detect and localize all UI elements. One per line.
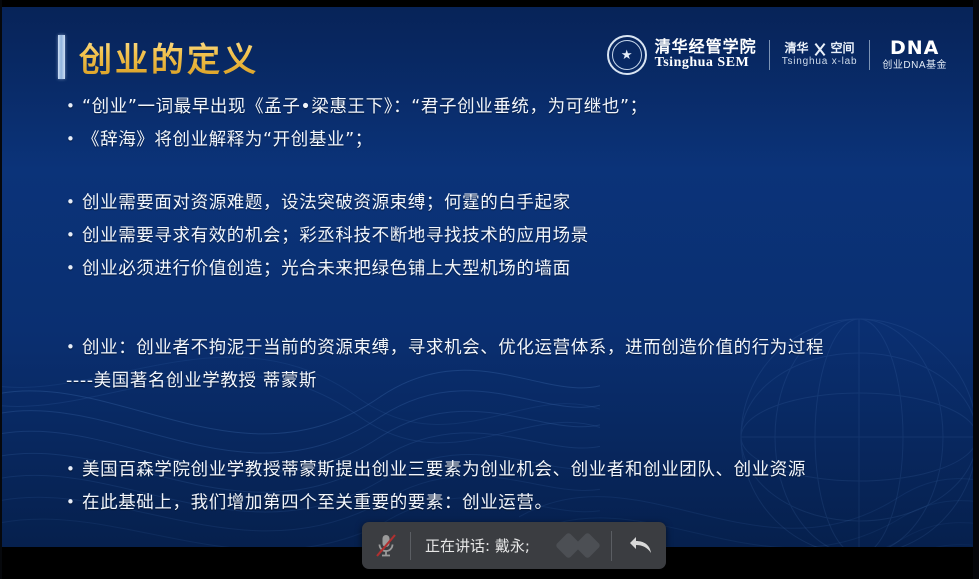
xlab-name-cn2: 空间: [831, 42, 855, 56]
x-mark-icon: [812, 42, 828, 56]
back-arrow-icon[interactable]: [618, 522, 666, 569]
spacer: [66, 157, 951, 187]
bullet-line: • 《辞海》将创业解释为“开创基业”；: [66, 130, 373, 151]
meeting-toolbar[interactable]: 正在讲话: 戴永;: [362, 522, 666, 569]
presentation-slide: 创业的定义 清华经管学院 Tsinghua SEM 清华 空间 Tsinghua…: [0, 7, 979, 547]
spacer: [66, 286, 951, 316]
bullet-marker: •: [66, 338, 82, 357]
logo-divider: [769, 40, 770, 70]
definition-text: 创业：创业者不拘泥于当前的资源束缚，寻求机会、优化运营体系，进而创造价值的行为过…: [82, 338, 824, 359]
spacer: [66, 428, 951, 454]
bullet-line: • 创业需要寻求有效的机会；彩丞科技不断地寻找技术的应用场景: [66, 226, 589, 247]
bullet-line: • 创业需要面对资源难题，设法突破资源束缚；何霆的白手起家: [66, 193, 571, 214]
bullet-marker: •: [66, 130, 82, 149]
xlab-name-cn: 清华: [785, 42, 809, 56]
bullet-line: • 创业必须进行价值创造；光合未来把绿色铺上大型机场的墙面: [66, 259, 571, 280]
logo-bar: 清华经管学院 Tsinghua SEM 清华 空间 Tsinghua x-lab…: [607, 35, 947, 75]
bullet-marker: •: [66, 460, 82, 479]
bullet-text: 在此基础上，我们增加第四个至关重要的要素：创业运营。: [82, 493, 553, 514]
top-letterbox: [0, 0, 979, 7]
bullet-line: • 美国百森学院创业学教授蒂蒙斯提出创业三要素为创业机会、创业者和创业团队、创业…: [66, 460, 806, 481]
screen: 创业的定义 清华经管学院 Tsinghua SEM 清华 空间 Tsinghua…: [0, 0, 979, 579]
attribution-line: ----美国著名创业学教授 蒂蒙斯: [66, 371, 317, 392]
toolbar-divider-2: [611, 531, 612, 561]
spacer: [66, 316, 951, 332]
right-letterbox: [973, 0, 979, 579]
microphone-muted-glyph: [374, 533, 398, 559]
dna-mark: DNA: [890, 38, 939, 60]
logo-tsinghua-sem: 清华经管学院 Tsinghua SEM: [607, 35, 757, 75]
title-accent-bar: [58, 35, 65, 79]
definition-line: • 创业：创业者不拘泥于当前的资源束缚，寻求机会、优化运营体系，进而创造价值的行…: [66, 338, 824, 359]
dna-sub-label: 创业DNA基金: [882, 60, 947, 72]
bullet-marker: •: [66, 259, 82, 278]
diamond-shape-icon[interactable]: [559, 536, 605, 555]
bullet-line: • “创业”一词最早出现《孟子•梁惠王下》：“君子创业垂统，为可继也”；: [66, 97, 648, 118]
tsinghua-seal-icon: [607, 35, 647, 75]
bullet-marker: •: [66, 97, 82, 116]
left-letterbox: [0, 0, 2, 579]
slide-title-group: 创业的定义: [58, 33, 259, 81]
attribution-text: ----美国著名创业学教授 蒂蒙斯: [66, 371, 317, 392]
microphone-muted-icon[interactable]: [362, 522, 410, 569]
spacer: [66, 398, 951, 428]
xlab-name-en: Tsinghua x-lab: [782, 56, 858, 68]
bullet-text: “创业”一词最早出现《孟子•梁惠王下》：“君子创业垂统，为可继也”；: [82, 97, 648, 118]
bullet-text: 《辞海》将创业解释为“开创基业”；: [82, 130, 373, 151]
logo-divider-2: [869, 40, 870, 70]
back-arrow-glyph: [629, 535, 655, 557]
bullet-marker: •: [66, 193, 82, 212]
logo-tsinghua-xlab: 清华 空间 Tsinghua x-lab: [782, 42, 858, 68]
page-title: 创业的定义: [79, 33, 259, 81]
slide-body: • “创业”一词最早出现《孟子•梁惠王下》：“君子创业垂统，为可继也”； • 《…: [66, 91, 951, 520]
bullet-text: 创业需要寻求有效的机会；彩丞科技不断地寻找技术的应用场景: [82, 226, 589, 247]
bullet-text: 创业需要面对资源难题，设法突破资源束缚；何霆的白手起家: [82, 193, 571, 214]
speaking-status-label: 正在讲话: 戴永;: [411, 535, 559, 556]
bullet-text: 创业必须进行价值创造；光合未来把绿色铺上大型机场的墙面: [82, 259, 571, 280]
diamond-b: [574, 532, 601, 559]
bullet-text: 美国百森学院创业学教授蒂蒙斯提出创业三要素为创业机会、创业者和创业团队、创业资源: [82, 460, 806, 481]
logo-dna-fund: DNA 创业DNA基金: [882, 38, 947, 71]
bullet-marker: •: [66, 226, 82, 245]
bullet-marker: •: [66, 493, 82, 512]
sem-name-cn: 清华经管学院: [655, 39, 757, 56]
sem-name-en: Tsinghua SEM: [655, 56, 757, 71]
bullet-line: • 在此基础上，我们增加第四个至关重要的要素：创业运营。: [66, 493, 553, 514]
